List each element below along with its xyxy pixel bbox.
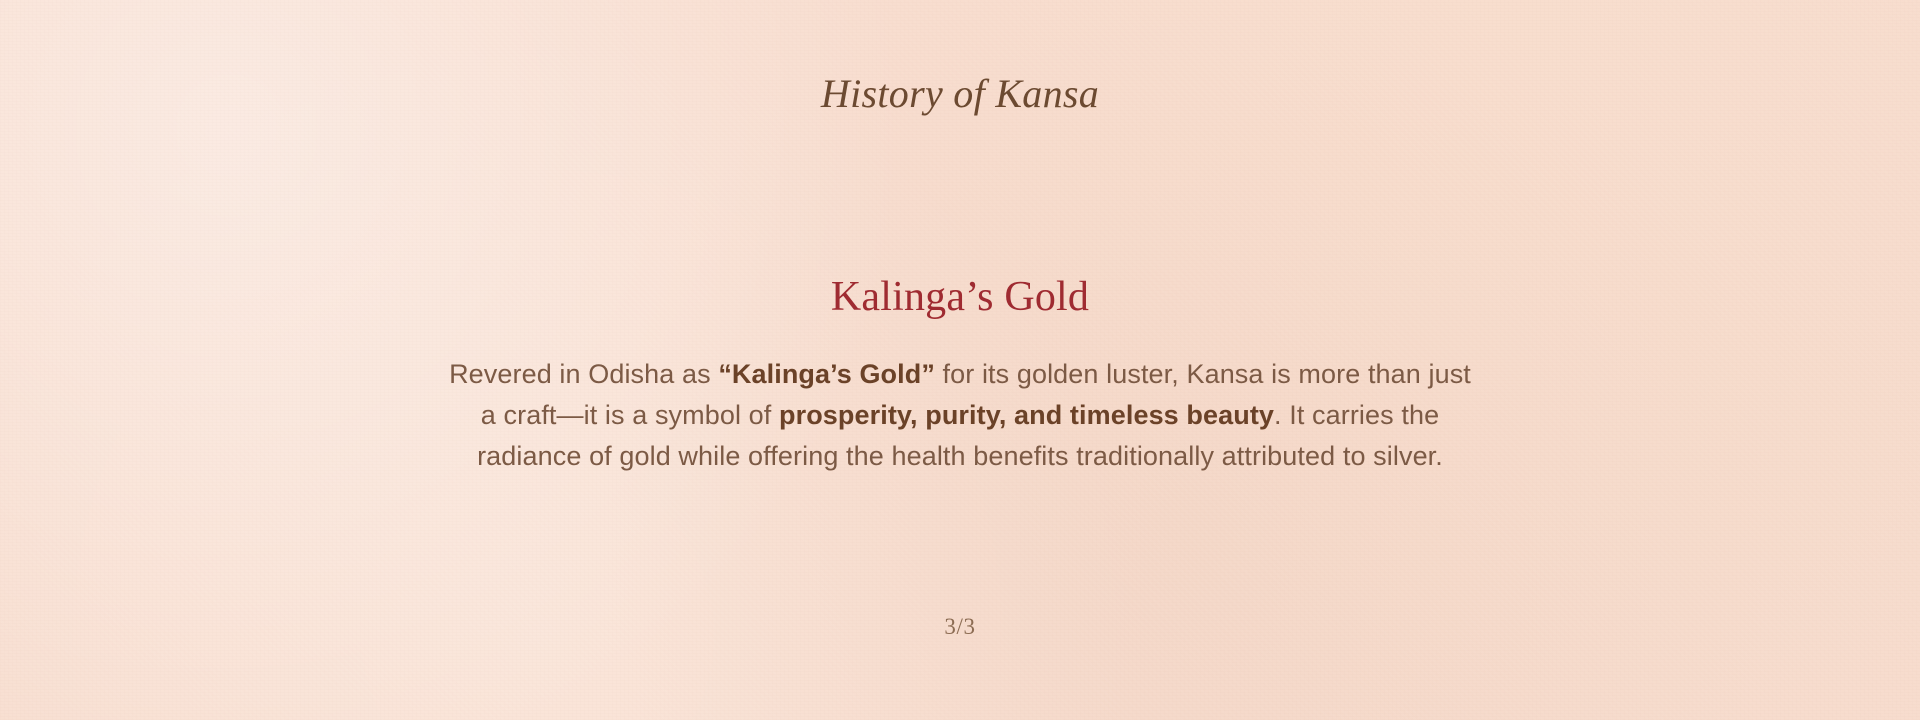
slide-page: History of Kansa Kalinga’s Gold Revered … <box>0 0 1920 720</box>
card-heading: Kalinga’s Gold <box>0 273 1920 321</box>
page-title: History of Kansa <box>0 72 1920 116</box>
page-counter: 3/3 <box>0 613 1920 641</box>
card-body-text: Revered in Odisha as “Kalinga’s Gold” fo… <box>445 354 1475 477</box>
slide-content: History of Kansa Kalinga’s Gold Revered … <box>0 0 1920 720</box>
